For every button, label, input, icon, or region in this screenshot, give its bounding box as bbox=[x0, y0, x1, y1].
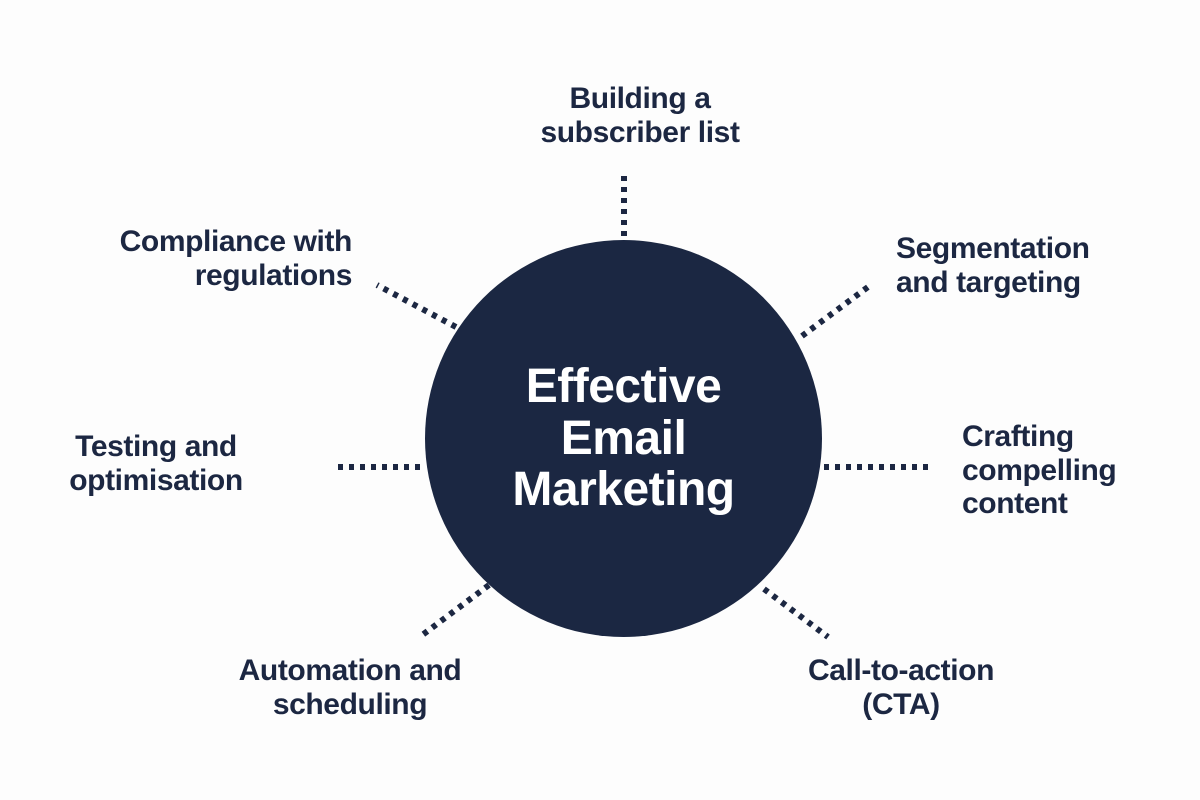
spoke-label-crafting-compelling-content: Crafting compelling content bbox=[962, 420, 1198, 521]
connector-top-right bbox=[802, 284, 872, 336]
hub-circle: Effective Email Marketing bbox=[425, 240, 822, 637]
spoke-label-testing-optimisation: Testing and optimisation bbox=[20, 430, 292, 497]
spoke-label-building-subscriber-list: Building a subscriber list bbox=[465, 82, 815, 149]
spoke-label-call-to-action: Call-to-action (CTA) bbox=[736, 654, 1066, 721]
spoke-label-automation-scheduling: Automation and scheduling bbox=[172, 654, 528, 721]
connector-bottom-left bbox=[421, 585, 489, 636]
spoke-label-compliance-regulations: Compliance with regulations bbox=[8, 225, 352, 292]
connector-bottom-right bbox=[764, 589, 828, 637]
connector-top-left bbox=[377, 285, 456, 327]
spoke-label-segmentation-targeting: Segmentation and targeting bbox=[896, 232, 1188, 299]
hub-label: Effective Email Marketing bbox=[484, 361, 762, 516]
hub-and-spoke-diagram: Effective Email Marketing Building a sub… bbox=[0, 0, 1200, 800]
